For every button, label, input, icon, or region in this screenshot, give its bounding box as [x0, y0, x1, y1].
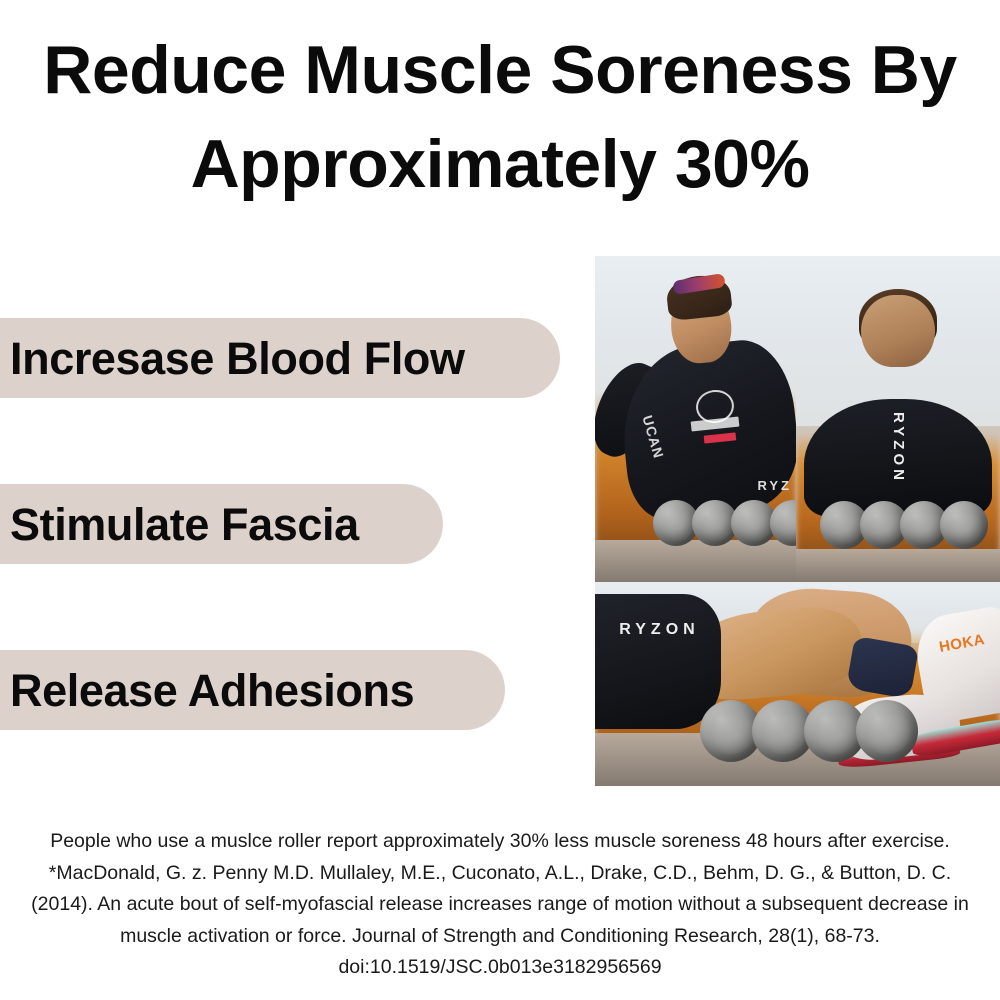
- ryzon-brand-text: RYZON: [619, 621, 699, 639]
- massage-roller: [653, 500, 796, 546]
- photo-legs-and-shoes-roller: RYZON HOKA: [595, 582, 1000, 786]
- benefit-label: Release Adhesions: [10, 668, 414, 713]
- photo-cyclist-seated-side-view: UCAN RYZ: [595, 256, 796, 582]
- photo-cyclist-back-view: RYZON: [796, 256, 1000, 582]
- benefits-list: Incresase Blood Flow Stimulate Fascia Re…: [0, 318, 560, 730]
- ryzon-brand-text: RYZON: [890, 412, 907, 484]
- roller-ball: [770, 500, 796, 546]
- benefit-label: Stimulate Fascia: [10, 502, 359, 547]
- page-title: Reduce Muscle Soreness By Approximately …: [0, 24, 1000, 212]
- massage-roller: [700, 700, 908, 762]
- benefit-pill-increase-blood-flow: Incresase Blood Flow: [0, 318, 560, 398]
- massage-roller: [820, 501, 980, 549]
- roller-ball: [856, 700, 918, 762]
- photo-collage: UCAN RYZ RYZON RY: [595, 256, 1000, 786]
- concrete-ledge: [796, 549, 1000, 582]
- benefit-label: Incresase Blood Flow: [10, 336, 465, 381]
- athlete-head: [861, 295, 934, 367]
- citation-text: People who use a muslce roller report ap…: [22, 826, 978, 984]
- benefit-pill-stimulate-fascia: Stimulate Fascia: [0, 484, 443, 564]
- ryzon-brand-text: RYZ: [757, 478, 792, 493]
- benefit-pill-release-adhesions: Release Adhesions: [0, 650, 505, 730]
